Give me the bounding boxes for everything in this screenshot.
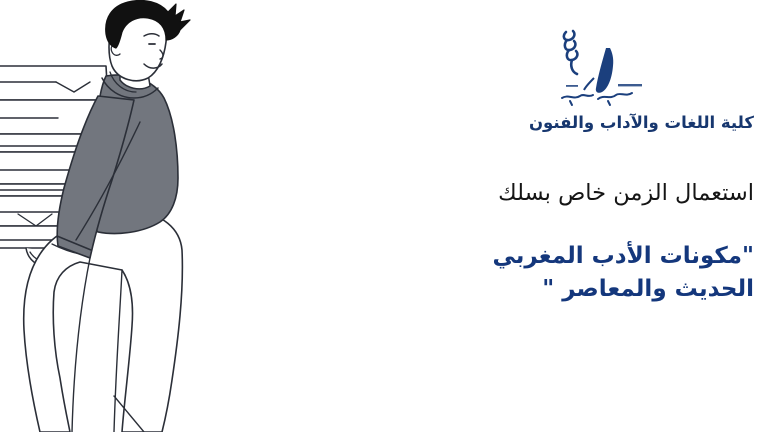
man-carrying-books-illustration	[0, 0, 244, 432]
logo-alif-stroke	[596, 48, 613, 93]
ibn-tofail-university-logo	[536, 22, 656, 108]
trousers	[24, 210, 183, 432]
calligraphy-flourish	[564, 31, 578, 74]
content-column: كلية اللغات والآداب والفنون استعمال الزم…	[334, 0, 754, 432]
timetable-subject-line: استعمال الزمن خاص بسلك	[334, 178, 754, 208]
program-title: "مكونات الأدب المغربي الحديث والمعاصر "	[334, 240, 754, 305]
poster-canvas: كلية اللغات والآداب والفنون استعمال الزم…	[0, 0, 768, 432]
logo-arabic-script	[562, 93, 632, 105]
program-title-line-2: الحديث والمعاصر "	[334, 273, 754, 306]
faculty-name: كلية اللغات والآداب والفنون	[334, 112, 754, 133]
program-title-line-1: "مكونات الأدب المغربي	[334, 240, 754, 273]
